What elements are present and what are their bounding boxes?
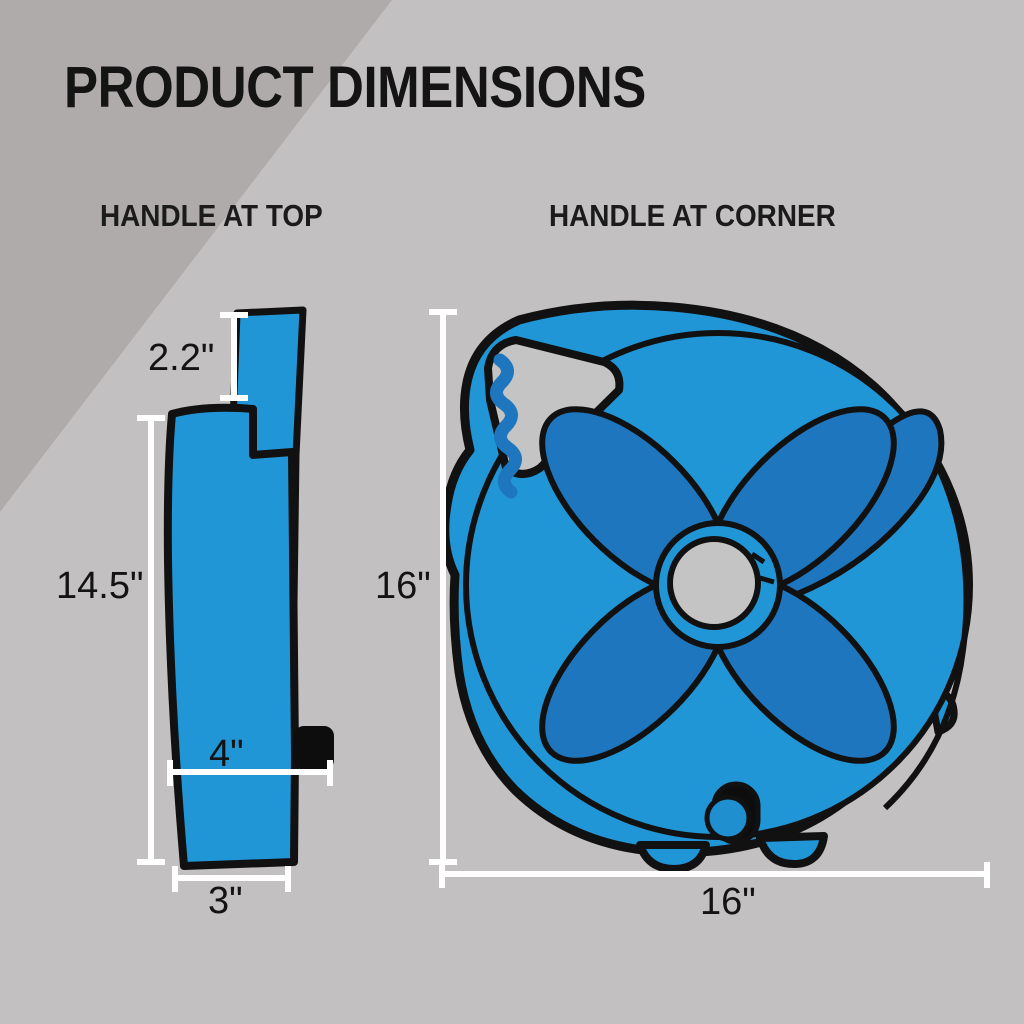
dim-label-16-vertical: 16" (375, 565, 431, 608)
dim-label-16-horizontal: 16" (700, 881, 756, 924)
dim-label-2-2: 2.2" (148, 337, 214, 380)
dim-label-14-5: 14.5" (56, 565, 143, 608)
background-light-panel (0, 0, 1024, 1024)
subtitle-handle-at-corner: HANDLE AT CORNER (549, 198, 836, 234)
product-dimensions-graphic: PRODUCT DIMENSIONS HANDLE AT TOP HANDLE … (0, 0, 1024, 1024)
dim-label-4: 4" (209, 733, 244, 776)
subtitle-handle-at-top: HANDLE AT TOP (100, 198, 323, 234)
dim-label-3: 3" (208, 880, 243, 923)
page-title: PRODUCT DIMENSIONS (64, 54, 646, 121)
